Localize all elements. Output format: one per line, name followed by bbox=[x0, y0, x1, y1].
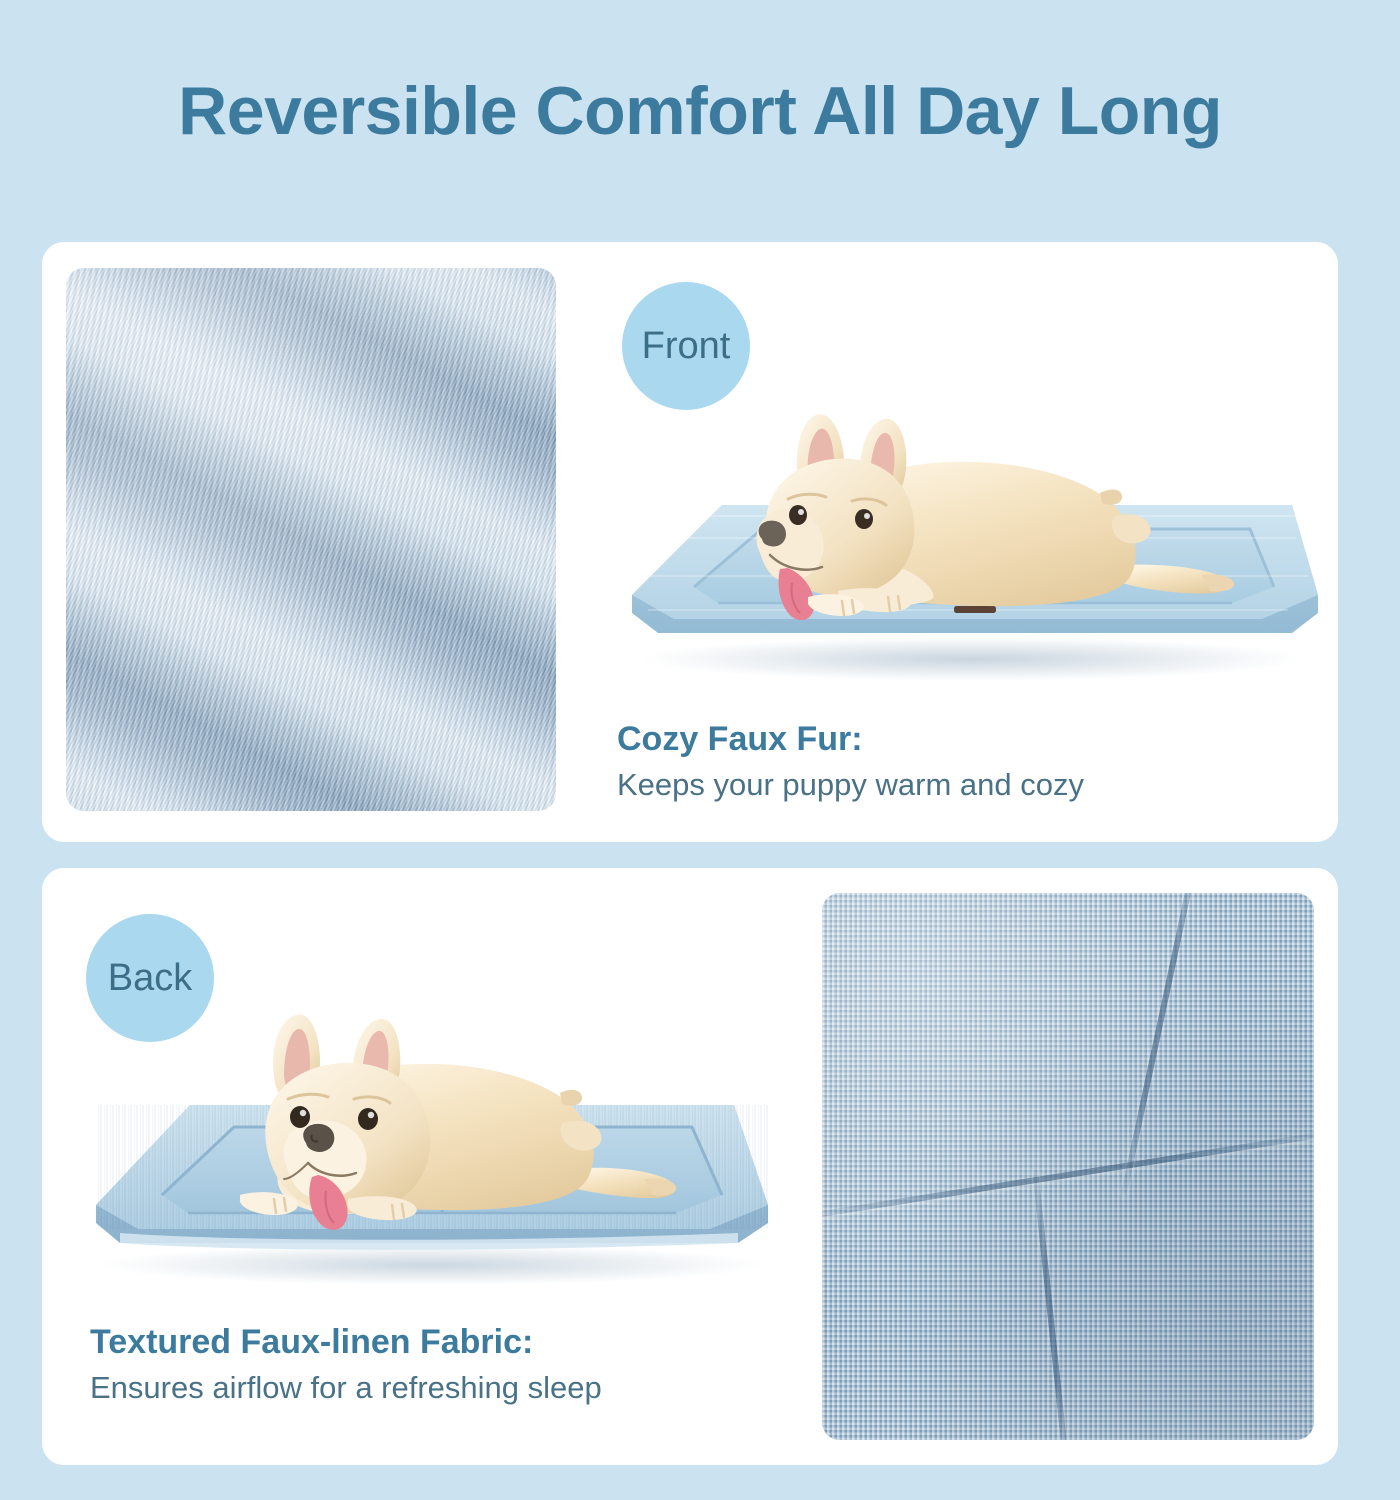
dog-on-fleece-mat-image bbox=[602, 387, 1338, 687]
caption-back-title: Textured Faux-linen Fabric: bbox=[90, 1323, 602, 1362]
caption-front: Cozy Faux Fur: Keeps your puppy warm and… bbox=[617, 720, 1084, 803]
page-title: Reversible Comfort All Day Long bbox=[0, 72, 1400, 150]
feature-card-front: Front bbox=[42, 242, 1338, 842]
caption-front-title: Cozy Faux Fur: bbox=[617, 720, 1084, 759]
caption-front-subtitle: Keeps your puppy warm and cozy bbox=[617, 767, 1084, 803]
faux-fur-texture-image bbox=[66, 268, 556, 811]
linen-shading-overlay bbox=[822, 893, 1314, 1440]
caption-back-subtitle: Ensures airflow for a refreshing sleep bbox=[90, 1370, 602, 1406]
dog-on-linen-mat-image bbox=[62, 993, 802, 1293]
faux-linen-texture-image bbox=[822, 893, 1314, 1440]
feature-card-back: Back bbox=[42, 868, 1338, 1465]
badge-front-label: Front bbox=[642, 325, 731, 368]
caption-back: Textured Faux-linen Fabric: Ensures airf… bbox=[90, 1323, 602, 1406]
